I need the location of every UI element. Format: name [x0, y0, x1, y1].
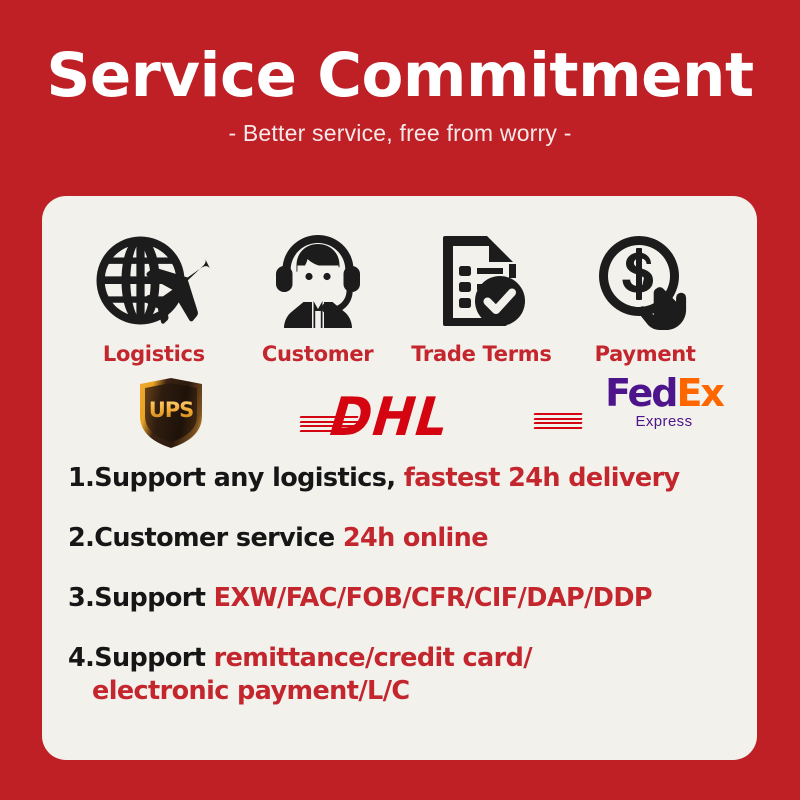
- feature-label: Trade Terms: [400, 342, 564, 366]
- dhl-speedlines-right-icon: [534, 413, 582, 426]
- service-commitment-banner: Service Commitment - Better service, fre…: [0, 0, 800, 800]
- fedex-express-text: Express: [601, 413, 727, 430]
- bullet-highlight-text: remittance/credit card/: [214, 643, 532, 673]
- page-title: Service Commitment: [0, 44, 800, 108]
- dhl-logo: DHL: [300, 388, 582, 442]
- bullet-logistics: 1.Support any logistics, fastest 24h del…: [68, 462, 733, 494]
- feature-label: Logistics: [72, 342, 236, 366]
- feature-label: Customer: [236, 342, 400, 366]
- feature-row: Logistics: [42, 196, 757, 366]
- content-card: Logistics: [42, 196, 757, 760]
- feature-payment: Payment: [563, 230, 727, 366]
- feature-customer: Customer: [236, 230, 400, 366]
- bullet-highlight-text: fastest 24h delivery: [404, 463, 680, 493]
- carrier-logo-row: UPS DHL FedEx Express: [42, 372, 757, 448]
- bullet-trade-terms: 3.Support EXW/FAC/FOB/CFR/CIF/DAP/DDP: [68, 582, 733, 614]
- header: Service Commitment - Better service, fre…: [0, 0, 800, 147]
- bullet-highlight-second-line: electronic payment/L/C: [68, 675, 733, 707]
- headset-agent-icon: [236, 230, 400, 334]
- bullet-payment: 4.Support remittance/credit card/ electr…: [68, 642, 733, 706]
- bullet-highlight-text: 24h online: [343, 523, 488, 553]
- bullet-customer-service: 2.Customer service 24h online: [68, 522, 733, 554]
- bullet-plain-text: 3.Support: [68, 583, 214, 613]
- fedex-logo: FedEx Express: [601, 374, 727, 430]
- dhl-logo-text: DHL: [328, 386, 453, 447]
- fedex-wordmark: FedEx: [601, 374, 727, 412]
- feature-label: Payment: [563, 342, 727, 366]
- dollar-coin-click-icon: [563, 230, 727, 334]
- ups-logo-text: UPS: [140, 398, 202, 422]
- bullet-plain-text: 2.Customer service: [68, 523, 343, 553]
- fedex-fed-text: Fed: [605, 371, 676, 415]
- fedex-ex-text: Ex: [676, 371, 722, 415]
- commitment-list: 1.Support any logistics, fastest 24h del…: [42, 448, 757, 707]
- bullet-plain-text: 1.Support any logistics,: [68, 463, 404, 493]
- bullet-plain-text: 4.Support: [68, 643, 214, 673]
- document-checklist-check-icon: [400, 230, 564, 334]
- bullet-highlight-text: EXW/FAC/FOB/CFR/CIF/DAP/DDP: [214, 583, 652, 613]
- feature-logistics: Logistics: [72, 230, 236, 366]
- globe-airplane-icon: [72, 230, 236, 334]
- ups-logo: UPS: [140, 378, 202, 448]
- feature-trade-terms: Trade Terms: [400, 230, 564, 366]
- page-subtitle: - Better service, free from worry -: [0, 120, 800, 147]
